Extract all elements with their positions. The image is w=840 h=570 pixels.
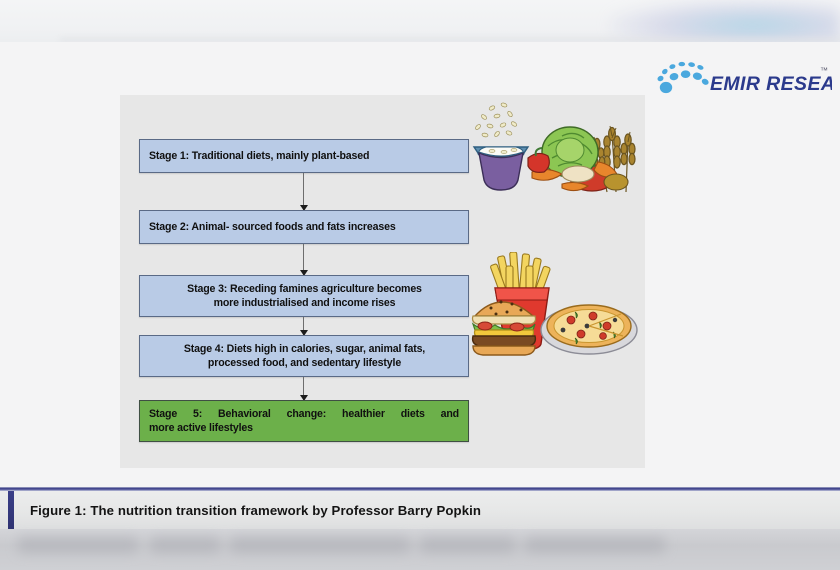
- caption-accent-bar: [8, 491, 14, 529]
- rice-grains-icon: [475, 102, 518, 137]
- rice-bowl-icon: [474, 147, 528, 190]
- stage-5-label-line1: Stage 5: Behavioral change: healthier di…: [149, 407, 459, 422]
- stage-4-label-line1: Stage 4: Diets high in calories, sugar, …: [149, 342, 460, 357]
- connector-1-to-2: [303, 173, 304, 210]
- stage-1-box[interactable]: Stage 1: Traditional diets, mainly plant…: [139, 139, 469, 173]
- pizza-icon: [541, 305, 637, 354]
- connector-4-to-5: [303, 377, 304, 400]
- stage-4-label-line2: processed food, and sedentary lifestyle: [149, 356, 460, 371]
- stage-1-label: Stage 1: Traditional diets, mainly plant…: [149, 149, 369, 164]
- logo-wordmark: EMIR RESEARCH: [710, 73, 832, 95]
- figure-caption: Figure 1: The nutrition transition frame…: [30, 491, 481, 529]
- connector-3-to-4: [303, 317, 304, 335]
- stage-4-box[interactable]: Stage 4: Diets high in calories, sugar, …: [139, 335, 469, 377]
- stage-3-label-line2: more industrialised and income rises: [149, 296, 460, 311]
- fast-food-illustration: [471, 252, 639, 360]
- bottom-blurred-text: [0, 531, 700, 565]
- logo-trademark-symbol: ™: [820, 66, 828, 75]
- potato-icon: [604, 174, 628, 190]
- garlic-icon: [562, 166, 594, 182]
- connector-2-to-3: [303, 244, 304, 275]
- stage-2-box[interactable]: Stage 2: Animal- sourced foods and fats …: [139, 210, 469, 244]
- stage-3-box[interactable]: Stage 3: Receding famines agriculture be…: [139, 275, 469, 317]
- logo-dot-swoosh: [657, 62, 710, 93]
- page-root: EMIR RESEARCH ™: [0, 0, 840, 570]
- stage-5-label-line2: more active lifestyles: [149, 421, 459, 436]
- emir-research-logo[interactable]: EMIR RESEARCH ™: [652, 57, 832, 99]
- plant-based-foods-illustration: [466, 100, 638, 195]
- stage-2-label: Stage 2: Animal- sourced foods and fats …: [149, 220, 396, 235]
- stage-3-label-line1: Stage 3: Receding famines agriculture be…: [149, 282, 460, 297]
- stage-5-box[interactable]: Stage 5: Behavioral change: healthier di…: [139, 400, 469, 442]
